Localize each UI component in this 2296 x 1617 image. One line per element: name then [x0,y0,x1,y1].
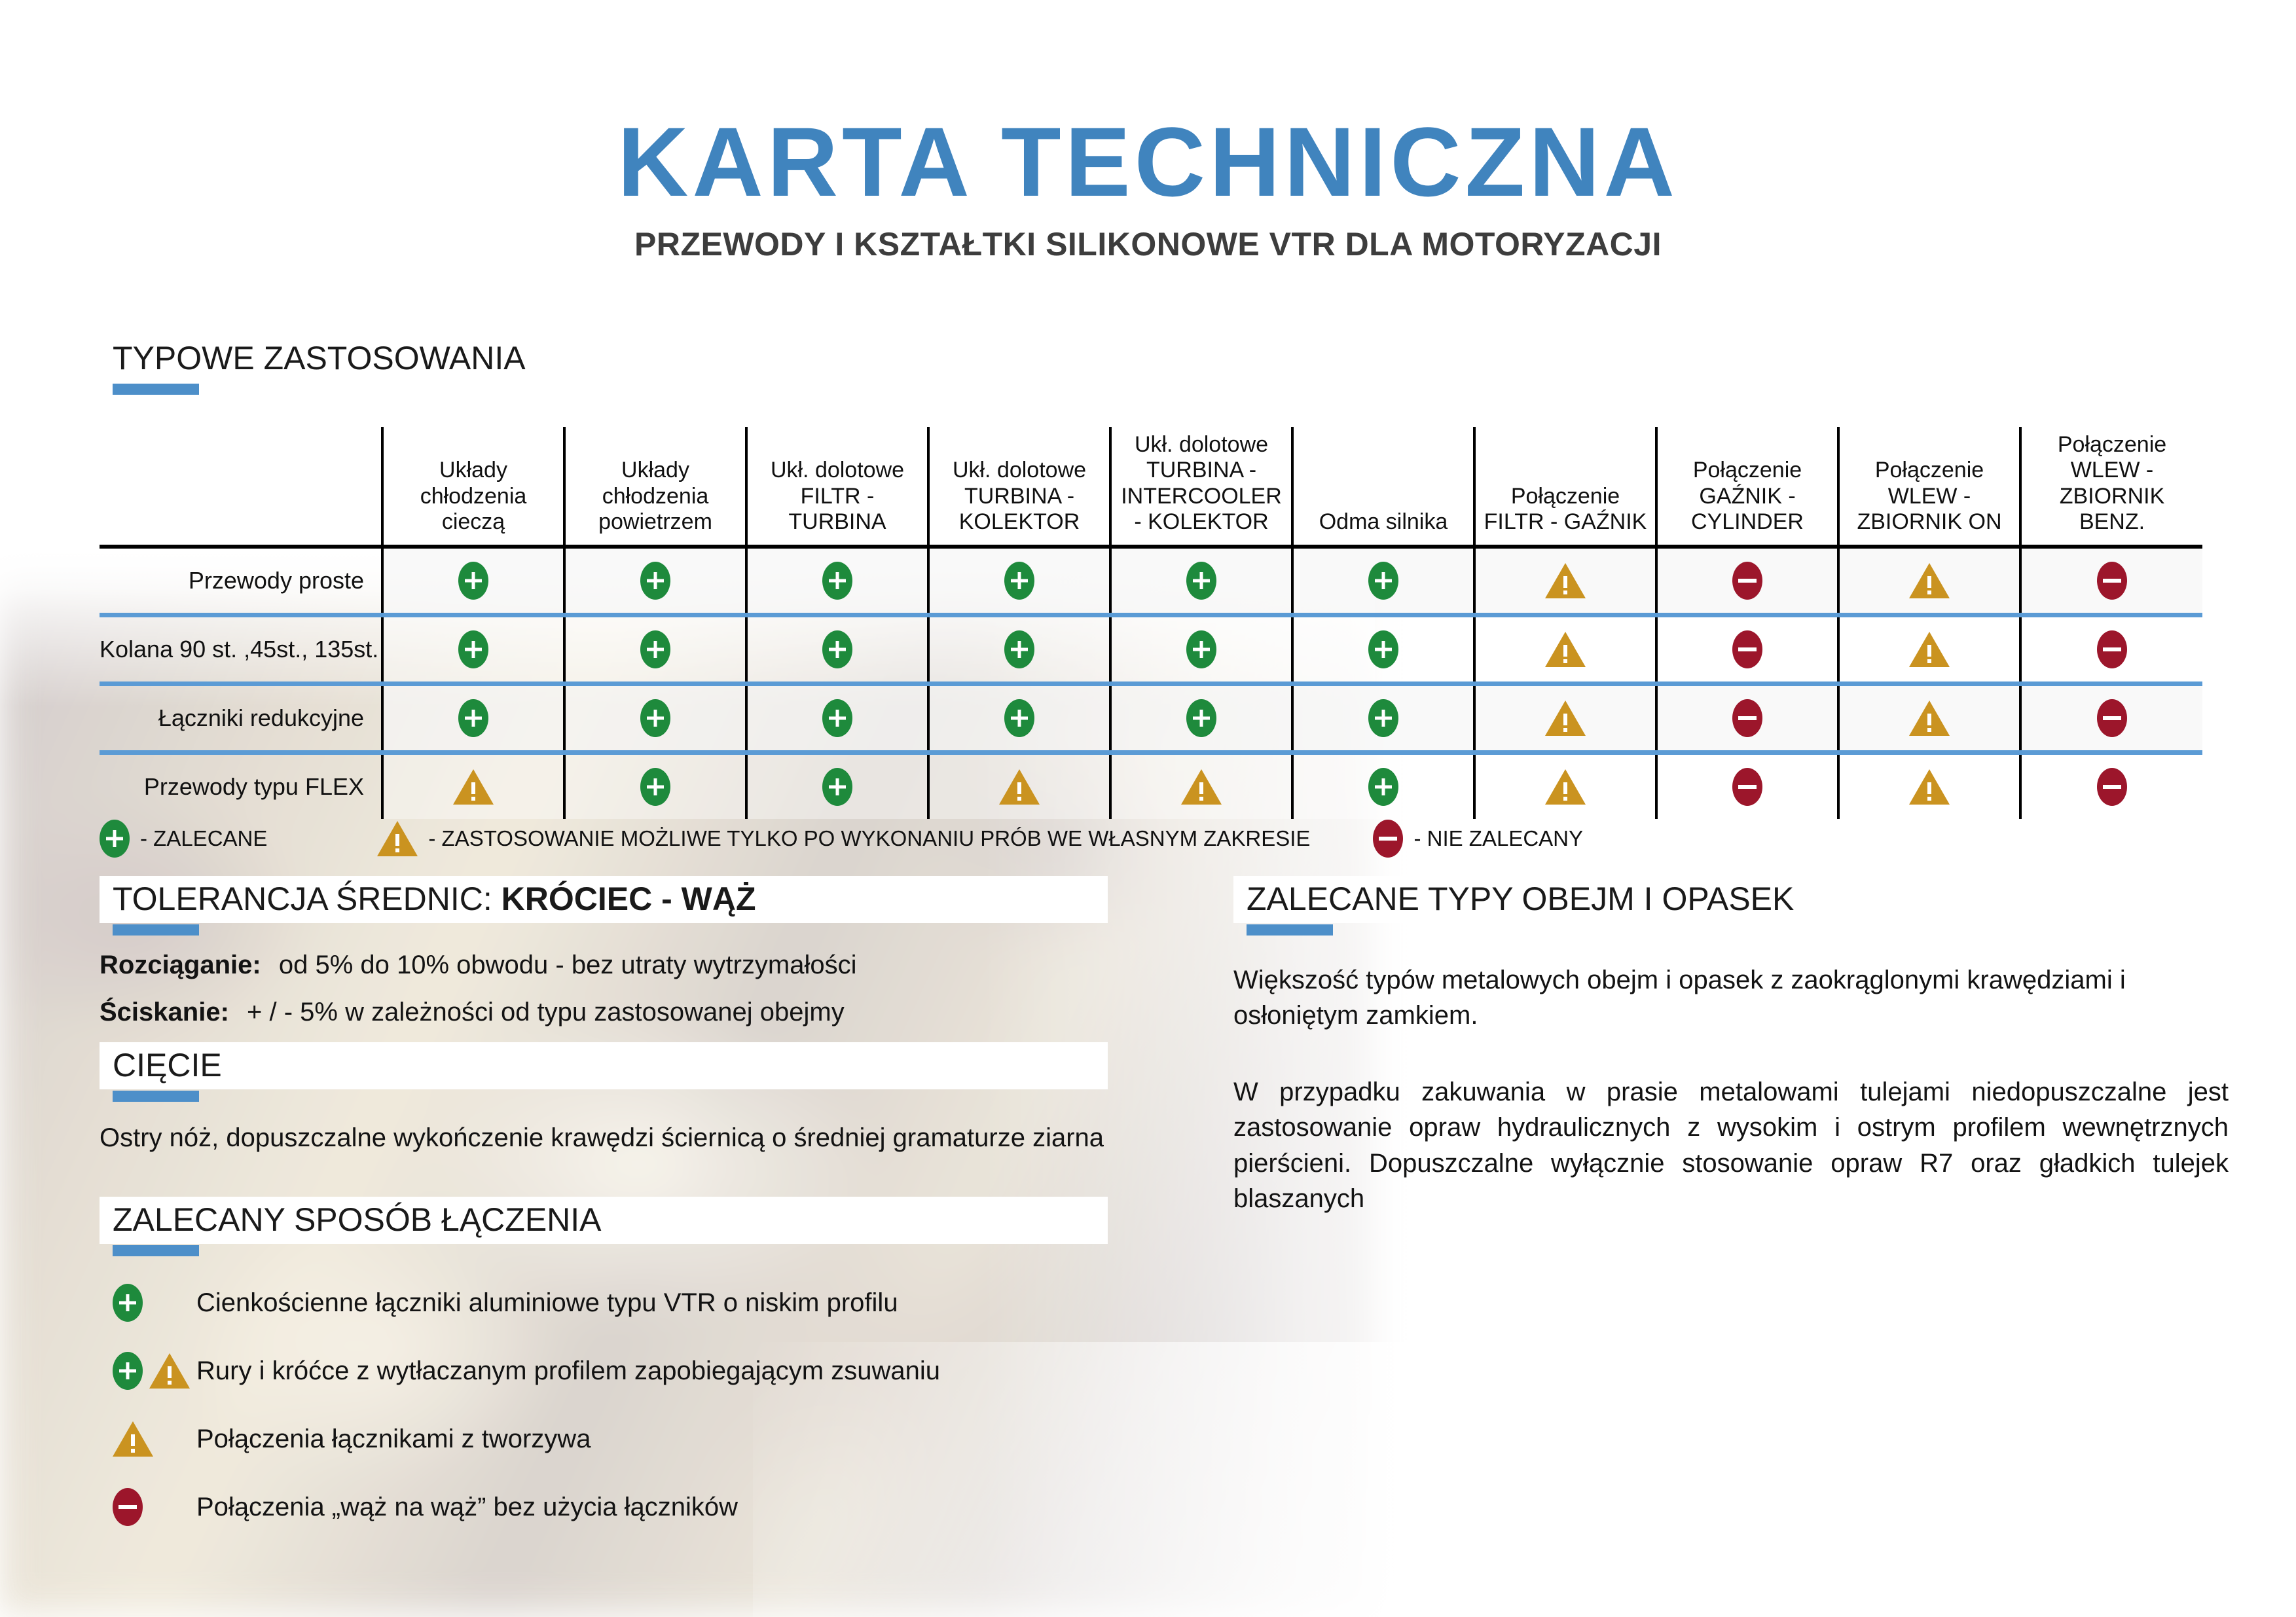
recommended-plus-icon [640,699,670,737]
heading-underline-bar [113,384,199,395]
cell-r1-c5 [1292,615,1474,683]
heading-underline-bar [113,1091,199,1102]
cell-r3-c5 [1292,752,1474,819]
table-row: Przewody typu FLEX [100,752,2202,819]
cell-r2-c6 [1474,683,1656,752]
tolerance-stretch-value: od 5% do 10% obwodu - bez utraty wytrzym… [279,951,857,979]
row-label: Kolana 90 st. ,45st., 135st. [100,615,382,683]
cutting-body-text: Ostry nóż, dopuszczalne wykończenie kraw… [100,1121,1127,1156]
not-recommended-minus-icon [1732,699,1762,737]
column-header-6: Połączenie FILTR - GAŹNIK [1474,427,1656,547]
page-subtitle: PRZEWODY I KSZTAŁTKI SILIKONOWE VTR DLA … [0,225,2296,263]
caution-warning-icon [1181,769,1222,805]
cell-r3-c8 [1838,752,2020,819]
cell-r2-c3 [928,683,1110,752]
table-corner-cell [100,427,382,547]
cell-r2-c0 [382,683,564,752]
row-label: Łączniki redukcyjne [100,683,382,752]
cell-r1-c6 [1474,615,1656,683]
caution-warning-icon [377,821,418,856]
heading-underline-bar [113,1245,199,1256]
recommended-plus-icon [458,562,488,600]
cell-r0-c3 [928,547,1110,615]
cell-r1-c4 [1110,615,1292,683]
column-header-0: Układy chłodzenia cieczą [382,427,564,547]
column-header-9: Połączenie WLEW - ZBIORNIK BENZ. [2020,427,2202,547]
cell-r3-c2 [746,752,928,819]
joining-heading-text: ZALECANY SPOSÓB ŁĄCZENIA [100,1201,602,1238]
recommended-plus-icon [822,562,852,600]
joining-method-list: Cienkościenne łączniki aluminiowe typu V… [113,1280,1160,1552]
caution-warning-icon [1909,632,1950,667]
table-legend: - ZALECANE- ZASTOSOWANIE MOŻLIWE TYLKO P… [100,820,2195,858]
typical-applications-table: Układy chłodzenia ciecząUkłady chłodzeni… [100,427,2202,819]
not-recommended-minus-icon [2097,562,2127,600]
recommended-plus-icon [113,1284,143,1322]
recommended-plus-icon [1368,699,1398,737]
recommended-plus-icon [113,1352,143,1390]
cutting-heading-text: CIĘCIE [100,1047,222,1083]
not-recommended-minus-icon [2097,768,2127,806]
cell-r0-c1 [564,547,746,615]
cell-r2-c5 [1292,683,1474,752]
cell-r0-c4 [1110,547,1292,615]
cell-r3-c0 [382,752,564,819]
cell-r1-c1 [564,615,746,683]
recommended-plus-icon [1368,562,1398,600]
recommended-plus-icon [822,699,852,737]
legend-item-warn: - ZASTOSOWANIE MOŻLIWE TYLKO PO WYKONANI… [377,821,1310,856]
tolerance-stretch-label: Rozciąganie: [100,951,261,979]
list-item-icons [113,1284,196,1322]
list-item: Połączenia „wąż na wąż” bez użycia łączn… [113,1484,1160,1530]
recommended-plus-icon [458,630,488,668]
column-header-4: Ukł. dolotowe TURBINA - INTERCOOLER - KO… [1110,427,1292,547]
clamps-body: Większość typów metalowych obejm i opase… [1233,962,2229,1216]
page-title: KARTA TECHNICZNA [0,113,2296,211]
column-header-2: Ukł. dolotowe FILTR - TURBINA [746,427,928,547]
row-label: Przewody proste [100,547,382,615]
table-row: Przewody proste [100,547,2202,615]
tolerance-stretch-line: Rozciąganie: od 5% do 10% obwodu - bez u… [100,948,856,983]
list-item-icons [113,1352,196,1390]
section-heading-clamps: ZALECANE TYPY OBEJM I OPASEK [1233,876,2124,936]
tolerance-heading-plain: TOLERANCJA ŚREDNIC: [113,881,501,917]
recommended-plus-icon [1368,768,1398,806]
legend-label: - ZASTOSOWANIE MOŻLIWE TYLKO PO WYKONANI… [428,826,1310,851]
cell-r1-c7 [1656,615,1838,683]
tolerance-compress-label: Ściskanie: [100,998,229,1027]
section-heading-typical-applications: TYPOWE ZASTOSOWANIA [100,335,1121,395]
cell-r0-c9 [2020,547,2202,615]
list-item: Połączenia łącznikami z tworzywa [113,1416,1160,1462]
cell-r3-c4 [1110,752,1292,819]
caution-warning-icon [453,769,494,805]
caution-warning-icon [1545,632,1586,667]
not-recommended-minus-icon [1373,820,1403,858]
not-recommended-minus-icon [2097,630,2127,668]
cell-r2-c9 [2020,683,2202,752]
clamps-paragraph-1: Większość typów metalowych obejm i opase… [1233,962,2229,1034]
caution-warning-icon [1545,700,1586,736]
caution-warning-icon [1545,563,1586,598]
list-item-icons [113,1421,196,1457]
section-title-text: TYPOWE ZASTOSOWANIA [100,340,526,376]
cell-r0-c2 [746,547,928,615]
legend-item-minus: - NIE ZALECANY [1373,820,1583,858]
cell-r0-c6 [1474,547,1656,615]
table-body: Przewody prosteKolana 90 st. ,45st., 135… [100,547,2202,819]
not-recommended-minus-icon [2097,699,2127,737]
not-recommended-minus-icon [1732,768,1762,806]
list-item: Rury i króćce z wytłaczanym profilem zap… [113,1348,1160,1394]
tolerance-heading-bold: KRÓCIEC - WĄŻ [501,881,756,917]
list-item-label: Rury i króćce z wytłaczanym profilem zap… [196,1356,940,1386]
recommended-plus-icon [1186,630,1216,668]
cell-r1-c2 [746,615,928,683]
cell-r2-c2 [746,683,928,752]
cell-r0-c0 [382,547,564,615]
tolerance-compress-line: Ściskanie: + / - 5% w zależności od typu… [100,995,845,1030]
column-header-5: Odma silnika [1292,427,1474,547]
caution-warning-icon [149,1353,190,1389]
table-header-row: Układy chłodzenia ciecząUkłady chłodzeni… [100,427,2202,547]
heading-underline-bar [113,924,199,936]
tolerance-heading-text: TOLERANCJA ŚREDNIC: KRÓCIEC - WĄŻ [100,881,756,917]
cell-r3-c7 [1656,752,1838,819]
clamps-heading-text: ZALECANE TYPY OBEJM I OPASEK [1233,881,1794,917]
list-item-label: Połączenia łącznikami z tworzywa [196,1425,591,1454]
cell-r2-c1 [564,683,746,752]
section-heading-tolerance: TOLERANCJA ŚREDNIC: KRÓCIEC - WĄŻ [100,876,1108,936]
cell-r1-c9 [2020,615,2202,683]
recommended-plus-icon [1186,562,1216,600]
cell-r1-c3 [928,615,1110,683]
list-item-label: Połączenia „wąż na wąż” bez użycia łączn… [196,1493,738,1522]
cell-r3-c9 [2020,752,2202,819]
list-item: Cienkościenne łączniki aluminiowe typu V… [113,1280,1160,1326]
caution-warning-icon [1909,769,1950,805]
recommended-plus-icon [640,630,670,668]
recommended-plus-icon [458,699,488,737]
caution-warning-icon [1909,563,1950,598]
cell-r2-c8 [1838,683,2020,752]
recommended-plus-icon [822,630,852,668]
caution-warning-icon [1545,769,1586,805]
column-header-8: Połączenie WLEW - ZBIORNIK ON [1838,427,2020,547]
cell-r3-c6 [1474,752,1656,819]
column-header-3: Ukł. dolotowe TURBINA - KOLEKTOR [928,427,1110,547]
cell-r0-c8 [1838,547,2020,615]
cell-r2-c4 [1110,683,1292,752]
recommended-plus-icon [100,820,130,858]
table-row: Łączniki redukcyjne [100,683,2202,752]
recommended-plus-icon [1004,630,1034,668]
not-recommended-minus-icon [113,1488,143,1526]
cell-r3-c3 [928,752,1110,819]
recommended-plus-icon [822,768,852,806]
not-recommended-minus-icon [1732,562,1762,600]
cell-r0-c5 [1292,547,1474,615]
tolerance-compress-value: + / - 5% w zależności od typu zastosowan… [247,998,845,1027]
recommended-plus-icon [1004,562,1034,600]
cell-r1-c0 [382,615,564,683]
cell-r3-c1 [564,752,746,819]
document-header: KARTA TECHNICZNA PRZEWODY I KSZTAŁTKI SI… [0,0,2296,263]
row-label: Przewody typu FLEX [100,752,382,819]
recommended-plus-icon [1368,630,1398,668]
clamps-paragraph-2: W przypadku zakuwania w prasie metalowam… [1233,1074,2229,1217]
legend-label: - ZALECANE [140,826,267,851]
list-item-icons [113,1488,196,1526]
table-row: Kolana 90 st. ,45st., 135st. [100,615,2202,683]
cell-r0-c7 [1656,547,1838,615]
recommended-plus-icon [1004,699,1034,737]
cell-r1-c8 [1838,615,2020,683]
section-heading-cutting: CIĘCIE [100,1042,1108,1102]
legend-item-plus: - ZALECANE [100,820,267,858]
column-header-7: Połączenie GAŹNIK - CYLINDER [1656,427,1838,547]
caution-warning-icon [1909,700,1950,736]
recommended-plus-icon [640,562,670,600]
caution-warning-icon [113,1421,153,1457]
not-recommended-minus-icon [1732,630,1762,668]
heading-underline-bar [1247,924,1333,936]
legend-label: - NIE ZALECANY [1413,826,1583,851]
section-heading-joining: ZALECANY SPOSÓB ŁĄCZENIA [100,1197,1108,1256]
recommended-plus-icon [1186,699,1216,737]
caution-warning-icon [999,769,1040,805]
cell-r2-c7 [1656,683,1838,752]
recommended-plus-icon [640,768,670,806]
list-item-label: Cienkościenne łączniki aluminiowe typu V… [196,1288,898,1318]
column-header-1: Układy chłodzenia powietrzem [564,427,746,547]
